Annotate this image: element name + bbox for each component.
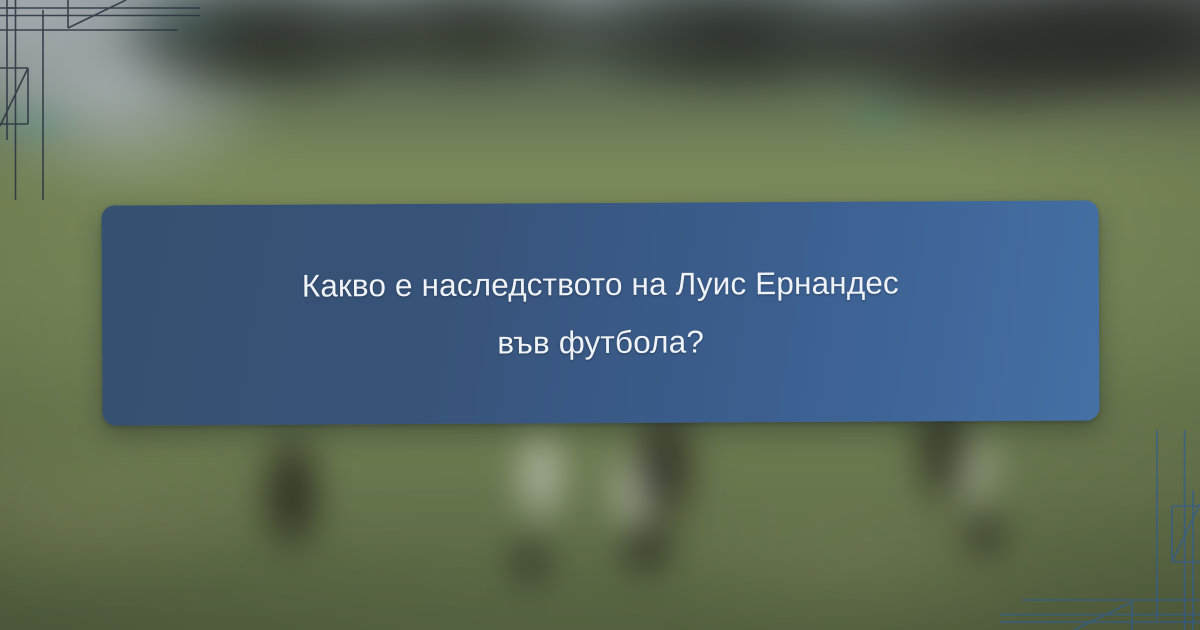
question-title: Какво е наследството на Луис Ернандес въ… (158, 253, 1044, 374)
question-card-inner: Какво е наследството на Луис Ернандес въ… (102, 252, 1100, 373)
screenshot-root: Какво е наследството на Луис Ернандес въ… (0, 0, 1200, 630)
question-card: Какво е наследството на Луис Ернандес въ… (101, 200, 1099, 425)
